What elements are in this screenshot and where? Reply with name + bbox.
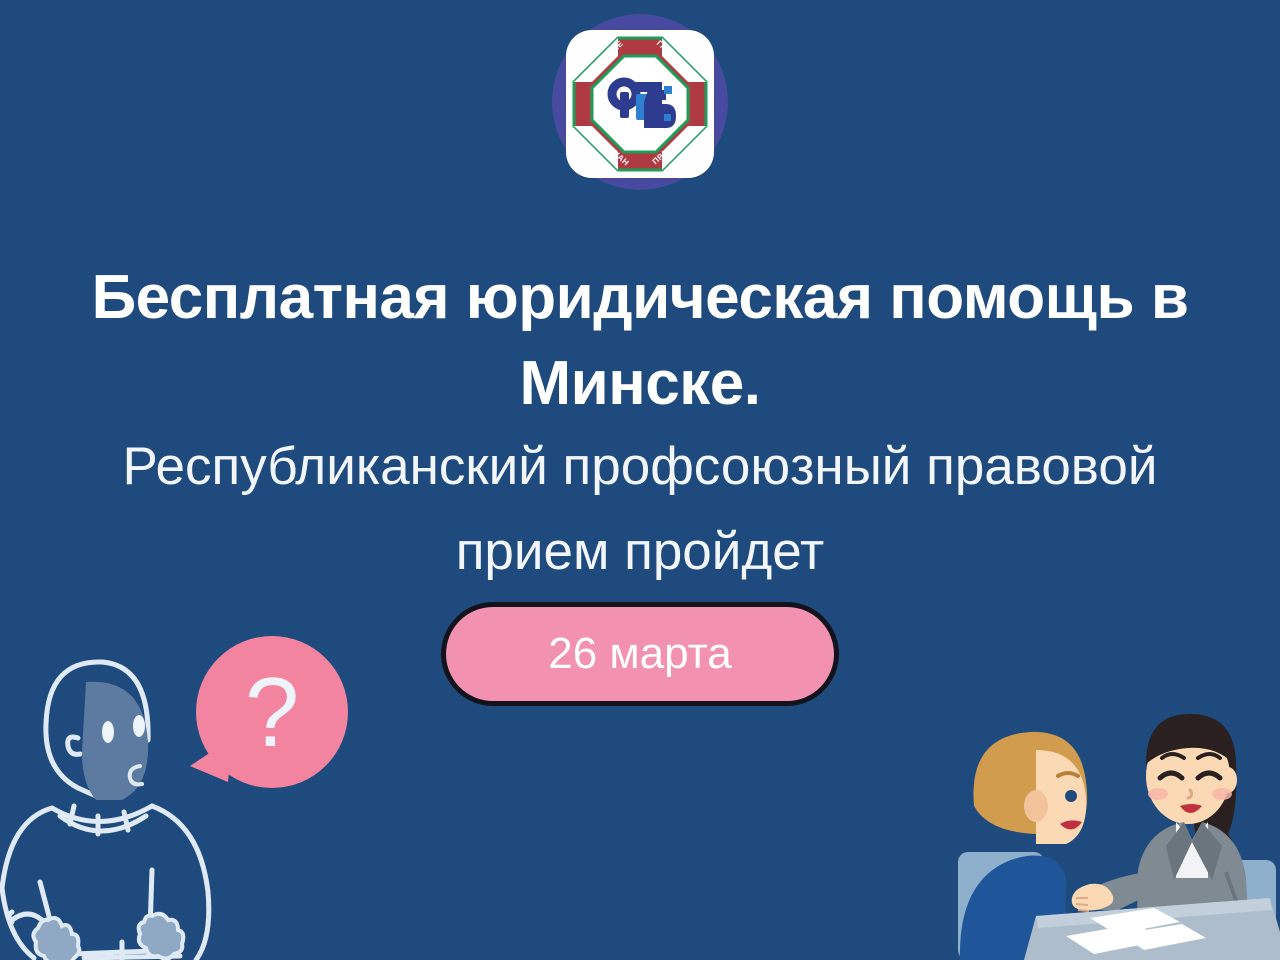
poster-subheadline: Республиканский профсоюзный правовой при…	[0, 425, 1280, 595]
organization-logo: МІНСКАЕ ГАРАДСКОЕ АБ'ЯДНАННЕ ПРАФСАЮЗАУ	[540, 14, 740, 190]
legal-consultation-illustration	[940, 702, 1280, 960]
person-with-question-bubble-illustration: ?	[0, 620, 390, 960]
poster-headline: Бесплатная юридическая помощь в Минске.	[0, 255, 1280, 426]
logo-emblem-icon: МІНСКАЕ ГАРАДСКОЕ АБ'ЯДНАННЕ ПРАФСАЮЗАУ	[566, 30, 714, 178]
logo-card: МІНСКАЕ ГАРАДСКОЕ АБ'ЯДНАННЕ ПРАФСАЮЗАУ	[566, 30, 714, 178]
question-speech-bubble: ?	[190, 636, 348, 788]
event-date-badge: 26 марта	[441, 602, 839, 706]
poster-canvas: МІНСКАЕ ГАРАДСКОЕ АБ'ЯДНАННЕ ПРАФСАЮЗАУ	[0, 0, 1280, 960]
face-shape	[82, 682, 148, 800]
question-mark-glyph: ?	[245, 657, 300, 767]
